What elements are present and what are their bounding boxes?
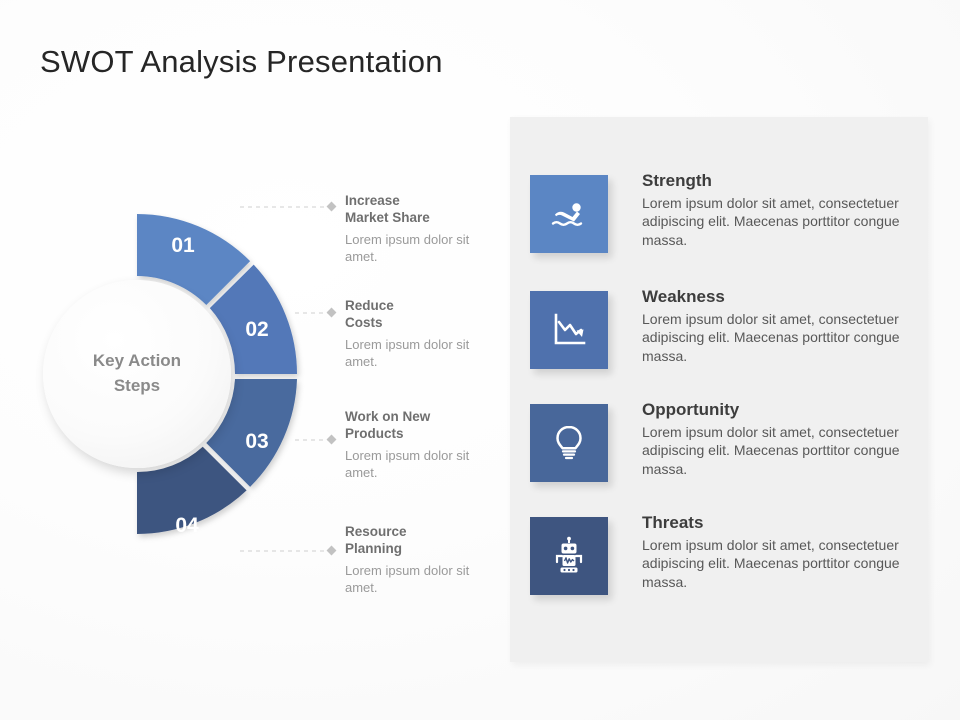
swot-item-strength[interactable]: Strength Lorem ipsum dolor sit amet, con… xyxy=(530,175,920,275)
swot-title-weakness: Weakness xyxy=(642,287,942,307)
step-label-04[interactable]: Resource Planning Lorem ipsum dolor sit … xyxy=(345,524,495,597)
step-description-04: Lorem ipsum dolor sit amet. xyxy=(345,563,495,597)
swot-description-threats: Lorem ipsum dolor sit amet, consectetuer… xyxy=(642,536,942,591)
donut-segment-number-03: 03 xyxy=(245,430,268,453)
step-title-04: Resource Planning xyxy=(345,524,495,558)
swot-item-opportunity[interactable]: Opportunity Lorem ipsum dolor sit amet, … xyxy=(530,404,920,504)
step-title-02: Reduce Costs xyxy=(345,298,495,332)
step-title-line2: Planning xyxy=(345,541,402,556)
step-label-01[interactable]: Increase Market Share Lorem ipsum dolor … xyxy=(345,193,495,266)
wheel-center-line1: Key Action xyxy=(93,351,181,370)
step-title-01: Increase Market Share xyxy=(345,193,495,227)
step-title-line1: Work on New xyxy=(345,409,430,424)
swot-icon-tile-weakness xyxy=(530,291,608,369)
page-title: SWOT Analysis Presentation xyxy=(40,44,443,80)
step-label-03[interactable]: Work on New Products Lorem ipsum dolor s… xyxy=(345,409,495,482)
swot-text-threats: Threats Lorem ipsum dolor sit amet, cons… xyxy=(642,513,942,591)
wheel-center-label: Key Action Steps xyxy=(93,349,181,398)
step-title-line2: Market Share xyxy=(345,210,430,225)
swot-title-strength: Strength xyxy=(642,171,942,191)
lightbulb-icon xyxy=(548,422,590,464)
donut-segment-number-01: 01 xyxy=(171,234,195,257)
swot-icon-tile-strength xyxy=(530,175,608,253)
slide-canvas: SWOT Analysis Presentation 01 02 03 04 xyxy=(0,0,960,720)
swot-title-opportunity: Opportunity xyxy=(642,400,942,420)
swot-item-threats[interactable]: Threats Lorem ipsum dolor sit amet, cons… xyxy=(530,517,920,617)
swot-text-strength: Strength Lorem ipsum dolor sit amet, con… xyxy=(642,171,942,249)
step-title-line1: Resource xyxy=(345,524,407,539)
swimmer-icon xyxy=(548,193,590,235)
swot-description-strength: Lorem ipsum dolor sit amet, consectetuer… xyxy=(642,194,942,249)
connector-marker-03 xyxy=(327,435,337,445)
donut-segment-number-02: 02 xyxy=(245,318,268,341)
step-title-line2: Products xyxy=(345,426,404,441)
swot-description-weakness: Lorem ipsum dolor sit amet, consectetuer… xyxy=(642,310,942,365)
step-title-line1: Increase xyxy=(345,193,400,208)
step-title-line2: Costs xyxy=(345,315,383,330)
step-description-02: Lorem ipsum dolor sit amet. xyxy=(345,337,495,371)
connector-marker-04 xyxy=(327,546,337,556)
wheel-center-hub: Key Action Steps xyxy=(43,280,231,468)
step-title-line1: Reduce xyxy=(345,298,394,313)
swot-icon-tile-threats xyxy=(530,517,608,595)
step-label-02[interactable]: Reduce Costs Lorem ipsum dolor sit amet. xyxy=(345,298,495,371)
swot-icon-tile-opportunity xyxy=(530,404,608,482)
donut-segment-number-04: 04 xyxy=(175,514,199,537)
wheel-center-line2: Steps xyxy=(114,376,160,395)
swot-item-weakness[interactable]: Weakness Lorem ipsum dolor sit amet, con… xyxy=(530,291,920,391)
connector-marker-02 xyxy=(327,308,337,318)
robot-icon xyxy=(548,535,590,577)
swot-description-opportunity: Lorem ipsum dolor sit amet, consectetuer… xyxy=(642,423,942,478)
swot-panel: Strength Lorem ipsum dolor sit amet, con… xyxy=(510,117,928,662)
connector-marker-01 xyxy=(327,202,337,212)
key-action-steps-wheel: 01 02 03 04 Key Action Steps xyxy=(35,160,325,590)
swot-title-threats: Threats xyxy=(642,513,942,533)
step-description-01: Lorem ipsum dolor sit amet. xyxy=(345,232,495,266)
swot-text-weakness: Weakness Lorem ipsum dolor sit amet, con… xyxy=(642,287,942,365)
step-description-03: Lorem ipsum dolor sit amet. xyxy=(345,448,495,482)
declining-chart-icon xyxy=(548,309,590,351)
step-title-03: Work on New Products xyxy=(345,409,495,443)
swot-text-opportunity: Opportunity Lorem ipsum dolor sit amet, … xyxy=(642,400,942,478)
